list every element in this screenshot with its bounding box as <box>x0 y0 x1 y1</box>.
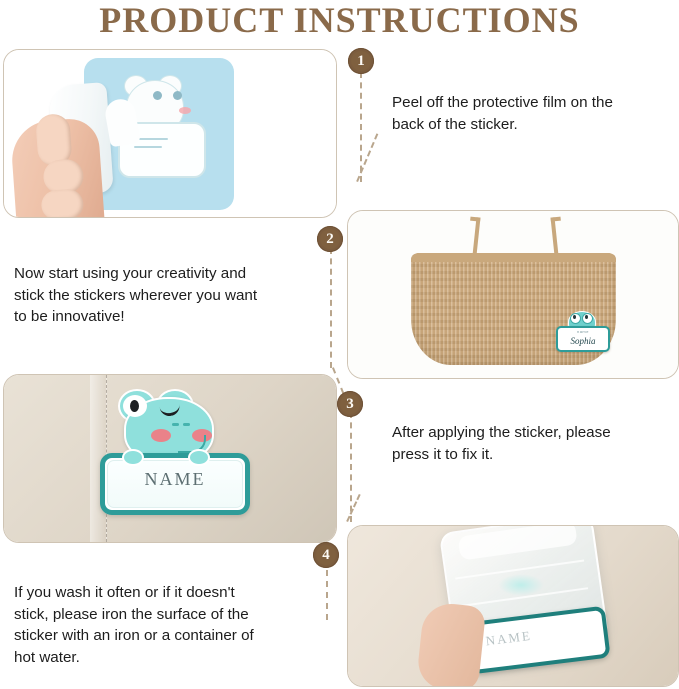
step-2-text: Now start using your creativity and stic… <box>14 263 314 328</box>
step-number-3: 3 <box>340 394 360 414</box>
frog-patch: NAME <box>100 397 240 505</box>
step-marker-1: 1 <box>348 48 374 74</box>
sticker-plate: name Sophia <box>556 326 610 352</box>
connector-line-2 <box>330 248 332 368</box>
finger <box>40 188 84 217</box>
photo-panel-step-1 <box>3 49 337 218</box>
container-lid <box>458 526 578 561</box>
bag-rim <box>411 253 616 262</box>
photo-panel-step-3: NAME <box>3 374 337 543</box>
instruction-sheet: PRODUCT INSTRUCTIONS <box>0 0 679 689</box>
applied-name-sticker: name Sophia <box>556 311 606 351</box>
frog-pupil-right <box>585 315 588 319</box>
sticker-eye-left <box>153 91 162 100</box>
sticker-scribble <box>134 146 162 148</box>
frog-nostril-right <box>183 423 190 426</box>
sticker-eye-right <box>173 91 182 100</box>
frog-name-patch-photo: NAME <box>4 375 336 542</box>
frog-eye-left <box>123 395 147 417</box>
name-plate-text: NAME <box>105 469 245 490</box>
straw-tote-bag-photo: name Sophia <box>348 211 678 378</box>
sticker-small-label: name <box>558 329 608 334</box>
photo-panel-step-4: NAME <box>347 525 679 687</box>
straw-bag-body: name Sophia <box>411 253 616 365</box>
frog-cheek-left <box>151 429 171 442</box>
sticker-cheek <box>179 107 191 114</box>
step-number-1: 1 <box>351 51 371 71</box>
step-4-text: If you wash it often or if it doesn't st… <box>14 582 318 668</box>
connector-line-4 <box>326 570 328 620</box>
teal-glow <box>498 574 544 596</box>
frog-nostril-left <box>172 423 179 426</box>
frog-pupil-left <box>573 315 576 319</box>
step-3-text: After applying the sticker, please press… <box>392 422 670 465</box>
hot-water-container-photo: NAME <box>348 526 678 686</box>
hand <box>416 601 487 686</box>
step-number-4: 4 <box>316 545 336 565</box>
connector-line-3 <box>350 412 352 522</box>
connector-diagonal-3-4 <box>346 494 360 522</box>
photo-panel-step-2: name Sophia <box>347 210 679 379</box>
name-plate: NAME <box>100 453 250 515</box>
frog-pupil-left <box>130 400 139 412</box>
step-1-text: Peel off the protective film on the back… <box>392 92 670 135</box>
step-marker-2: 2 <box>317 226 343 252</box>
hand <box>10 117 107 217</box>
step-marker-3: 3 <box>337 391 363 417</box>
applied-sticker-text: NAME <box>485 628 533 650</box>
sticker-name-text: Sophia <box>558 336 608 346</box>
peeling-film-photo <box>4 50 336 217</box>
page-title: PRODUCT INSTRUCTIONS <box>0 0 679 40</box>
frog-hand-right <box>188 449 210 466</box>
step-marker-4: 4 <box>313 542 339 568</box>
frog-hand-left <box>122 449 144 466</box>
step-number-2: 2 <box>320 229 340 249</box>
